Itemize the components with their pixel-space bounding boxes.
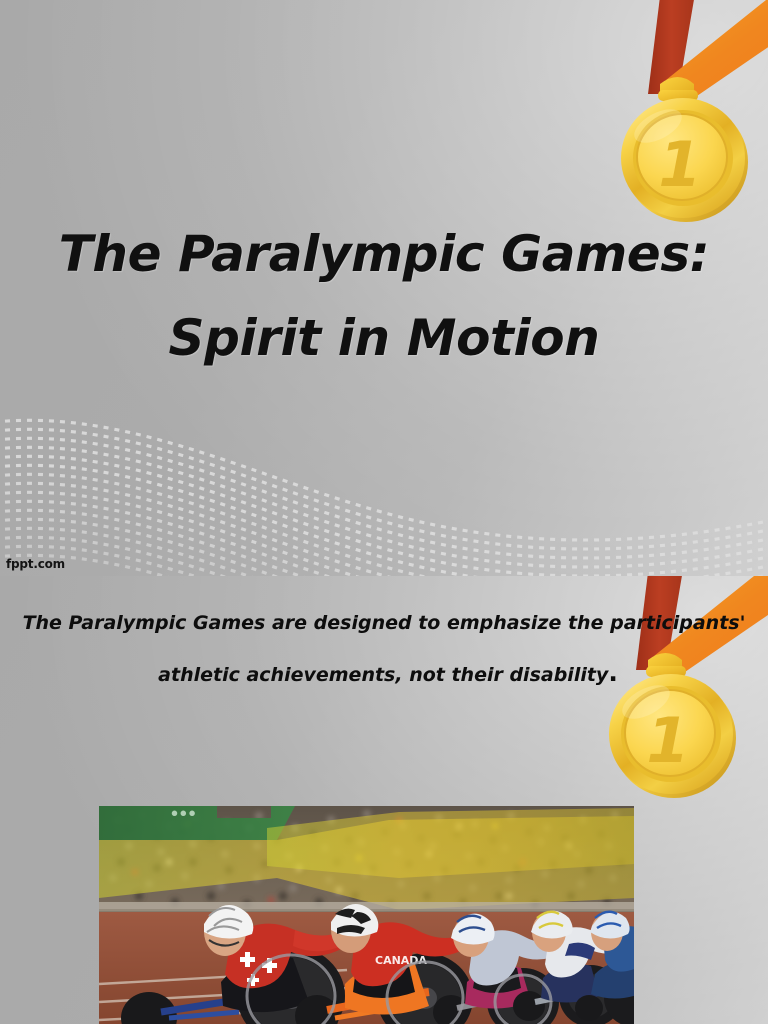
svg-text:1: 1 [658, 128, 701, 201]
slide-title-block: The Paralympic Games: Spirit in Motion [0, 212, 768, 380]
watermark-fppt: fppt.com [6, 557, 65, 571]
title-line-2: Spirit in Motion [0, 296, 768, 380]
gold-medal-top-icon: 1 [600, 0, 768, 234]
body-line-1: The Paralympic Games are designed to emp… [14, 598, 754, 648]
wheelchair-racing-photo: CANADA [99, 806, 634, 1024]
body-line-2-text: athletic achievements, not their disabil… [158, 664, 608, 686]
slide-body-block: The Paralympic Games are designed to emp… [0, 598, 768, 700]
body-line-2: athletic achievements, not their disabil… [14, 648, 754, 700]
body-period: . [608, 658, 618, 687]
slide-title: The Paralympic Games: Spirit in Motion f… [0, 0, 768, 576]
title-line-1: The Paralympic Games: [0, 212, 768, 296]
svg-text:CANADA: CANADA [375, 954, 427, 967]
svg-text:1: 1 [646, 704, 689, 777]
presentation-document: The Paralympic Games: Spirit in Motion f… [0, 0, 768, 1024]
dotted-wave-decoration [0, 392, 768, 576]
